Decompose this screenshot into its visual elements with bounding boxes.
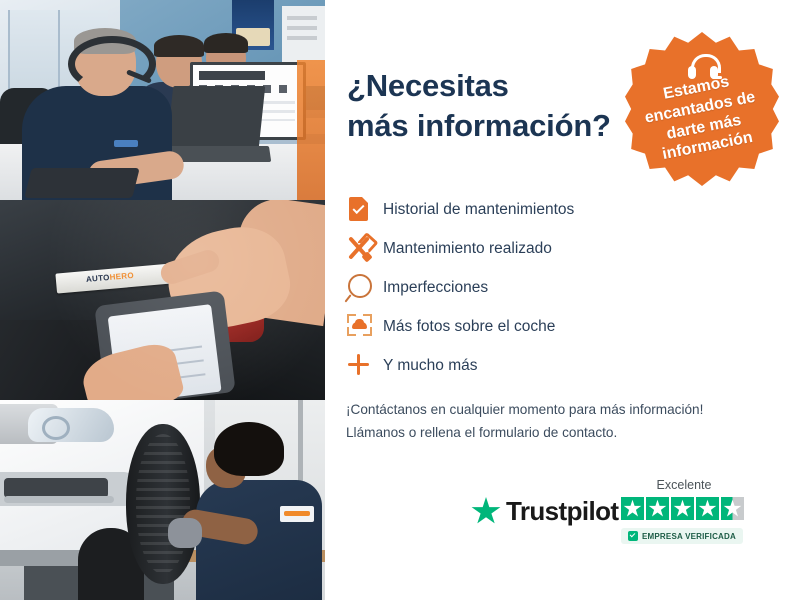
title-line-1: ¿Necesitas (347, 66, 647, 106)
feature-list: Historial de mantenimientos Mantenimient… (345, 190, 665, 385)
star-2 (646, 497, 669, 520)
feature-item-much-more: Y mucho más (345, 346, 665, 385)
front-tyre (126, 424, 200, 584)
star-4 (696, 497, 719, 520)
feature-label: Imperfecciones (383, 279, 488, 297)
feature-item-more-photos: Más fotos sobre el coche (345, 307, 665, 346)
feature-item-imperfections: Imperfecciones (345, 268, 665, 307)
help-badge: Estamos encantados de darte más informac… (625, 32, 779, 186)
star-1 (621, 497, 644, 520)
feature-item-maintenance-done: Mantenimiento realizado (345, 229, 665, 268)
light-glow (0, 200, 325, 400)
plus-icon (345, 351, 383, 381)
star-5-half (721, 497, 744, 520)
technician (196, 422, 322, 600)
content-panel: ¿Necesitas más información? Estamos enca… (325, 0, 799, 600)
magnifier-icon (345, 273, 383, 303)
trustpilot-wordmark: Trustpilot (506, 496, 618, 527)
orange-equipment (297, 60, 325, 200)
car-inspection-tablet-photo: AUTOHERO (0, 200, 325, 400)
feature-label: Historial de mantenimientos (383, 201, 574, 219)
information-banner: AUTOHERO (0, 0, 799, 600)
feature-label: Más fotos sobre el coche (383, 318, 555, 336)
photo-column: AUTOHERO (0, 0, 325, 600)
trustpilot-star-icon (471, 497, 501, 526)
verified-label: EMPRESA VERIFICADA (642, 532, 736, 541)
chrome-trim (4, 496, 114, 503)
check-icon (628, 531, 638, 541)
trustpilot-logo: Trustpilot (471, 496, 618, 527)
call-center-agents-photo (0, 0, 325, 200)
contact-line-2: Llámanos o rellena el formulario de cont… (346, 421, 776, 444)
star-3 (671, 497, 694, 520)
title-line-2: más información? (347, 106, 647, 146)
contact-text: ¡Contáctanos en cualquier momento para m… (346, 398, 776, 445)
workshop-tyre-check-photo (0, 400, 325, 600)
page-title: ¿Necesitas más información? (347, 66, 647, 145)
contact-line-1: ¡Contáctanos en cualquier momento para m… (346, 398, 776, 421)
feature-item-maintenance-history: Historial de mantenimientos (345, 190, 665, 229)
feature-label: Mantenimiento realizado (383, 240, 552, 258)
verified-company-badge: EMPRESA VERIFICADA (621, 528, 743, 544)
tools-cross-icon (345, 234, 383, 264)
star-rating (621, 497, 744, 520)
trustpilot-widget[interactable]: Trustpilot Excelente EMPRESA VERIFICADA (471, 478, 771, 554)
rating-label: Excelente (621, 478, 747, 492)
feature-label: Y mucho más (383, 357, 477, 375)
desk-tablet (24, 168, 139, 198)
car-frame-icon (345, 312, 383, 342)
laptop (167, 86, 266, 148)
car-headlight (28, 408, 114, 442)
document-check-icon (345, 195, 383, 225)
